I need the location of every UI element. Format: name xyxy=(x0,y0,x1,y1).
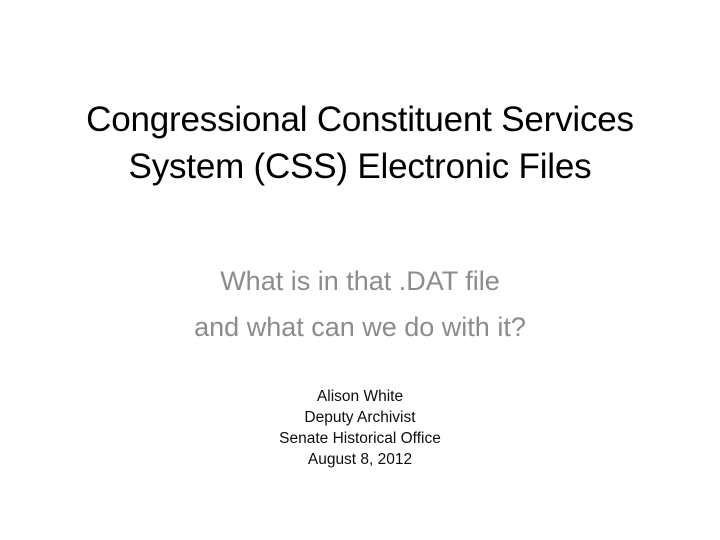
slide-subtitle-line-2: and what can we do with it? xyxy=(60,304,660,350)
presentation-date: August 8, 2012 xyxy=(110,449,610,470)
presentation-slide: Congressional Constituent Services Syste… xyxy=(0,0,720,540)
slide-title-line-2: System (CSS) Electronic Files xyxy=(50,143,670,190)
presenter-info: Alison White Deputy Archivist Senate His… xyxy=(110,386,610,470)
presenter-organization: Senate Historical Office xyxy=(110,428,610,449)
slide-title-line-1: Congressional Constituent Services xyxy=(50,96,670,143)
presenter-title: Deputy Archivist xyxy=(110,407,610,428)
presenter-name: Alison White xyxy=(110,386,610,407)
slide-subtitle-line-1: What is in that .DAT file xyxy=(60,258,660,304)
slide-subtitle: What is in that .DAT file and what can w… xyxy=(60,258,660,350)
slide-title: Congressional Constituent Services Syste… xyxy=(50,96,670,190)
